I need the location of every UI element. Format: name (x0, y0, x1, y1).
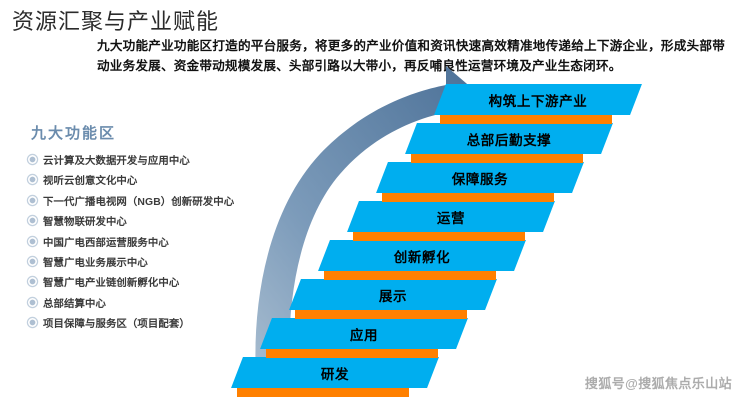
step-riser (411, 154, 583, 163)
page-title: 资源汇聚与产业赋能 (12, 4, 219, 36)
sidebar-item-label: 智慧物联研发中心 (43, 213, 127, 228)
staircase-step-8[interactable]: 构筑上下游产业 (440, 84, 636, 124)
step-label: 应用 (266, 318, 462, 349)
sidebar-item-label: 下一代广播电视网（NGB）创新研发中心 (43, 193, 234, 208)
bullet-circle-icon (28, 216, 37, 225)
bullet-circle-icon (28, 196, 37, 205)
staircase-step-4[interactable]: 创新孵化 (324, 240, 520, 280)
staircase-step-5[interactable]: 运营 (353, 201, 549, 241)
sidebar-item-6[interactable]: 智慧广电业务展示中心 (28, 254, 228, 269)
sidebar-item-7[interactable]: 智慧广电产业链创新孵化中心 (28, 274, 228, 289)
bullet-circle-icon (28, 175, 37, 184)
step-riser (440, 115, 612, 124)
sidebar-item-label: 中国广电西部运营服务中心 (43, 234, 169, 249)
bullet-circle-icon (28, 155, 37, 164)
staircase-step-2[interactable]: 应用 (266, 318, 462, 358)
step-label: 运营 (353, 201, 549, 232)
sidebar-item-3[interactable]: 下一代广播电视网（NGB）创新研发中心 (28, 193, 228, 208)
step-riser (324, 271, 496, 280)
step-label: 展示 (295, 279, 491, 310)
bullet-circle-icon (28, 257, 37, 266)
bullet-circle-icon (28, 318, 37, 327)
step-label: 总部后勤支撑 (411, 123, 607, 154)
sidebar-item-5[interactable]: 中国广电西部运营服务中心 (28, 234, 228, 249)
lead-paragraph: 九大功能产业功能区打造的平台服务，将更多的产业价值和资讯快速高效精准地传递给上下… (97, 36, 725, 77)
sidebar-item-1[interactable]: 云计算及大数据开发与应用中心 (28, 152, 228, 167)
sidebar-item-label: 智慧广电业务展示中心 (43, 254, 148, 269)
step-riser (295, 310, 467, 319)
sidebar-item-label: 视听云创意文化中心 (43, 172, 137, 187)
sidebar-item-label: 项目保障与服务区（项目配套） (43, 315, 190, 330)
sidebar-item-label: 智慧广电产业链创新孵化中心 (43, 274, 179, 289)
sidebar-item-8[interactable]: 总部结算中心 (28, 295, 228, 310)
step-riser (266, 349, 438, 358)
sidebar-item-9[interactable]: 项目保障与服务区（项目配套） (28, 315, 228, 330)
step-label: 创新孵化 (324, 240, 520, 271)
sidebar-item-4[interactable]: 智慧物联研发中心 (28, 213, 228, 228)
sidebar-list: 云计算及大数据开发与应用中心 视听云创意文化中心 下一代广播电视网（NGB）创新… (28, 152, 228, 330)
sidebar: 九大功能区 云计算及大数据开发与应用中心 视听云创意文化中心 下一代广播电视网（… (28, 122, 228, 336)
staircase-step-1[interactable]: 研发 (237, 357, 433, 397)
staircase-step-7[interactable]: 总部后勤支撑 (411, 123, 607, 163)
bullet-circle-icon (28, 277, 37, 286)
step-label: 研发 (237, 357, 433, 388)
staircase-step-3[interactable]: 展示 (295, 279, 491, 319)
sidebar-item-label: 云计算及大数据开发与应用中心 (43, 152, 190, 167)
step-riser (382, 193, 554, 202)
step-riser (237, 388, 409, 397)
sidebar-heading: 九大功能区 (31, 122, 228, 143)
sidebar-item-label: 总部结算中心 (43, 295, 106, 310)
bullet-circle-icon (28, 237, 37, 246)
step-label: 构筑上下游产业 (440, 84, 636, 115)
bullet-circle-icon (28, 298, 37, 307)
sidebar-item-2[interactable]: 视听云创意文化中心 (28, 172, 228, 187)
step-label: 保障服务 (382, 162, 578, 193)
watermark: 搜狐号@搜狐焦点乐山站 (585, 373, 732, 392)
step-riser (353, 232, 525, 241)
staircase-step-6[interactable]: 保障服务 (382, 162, 578, 202)
